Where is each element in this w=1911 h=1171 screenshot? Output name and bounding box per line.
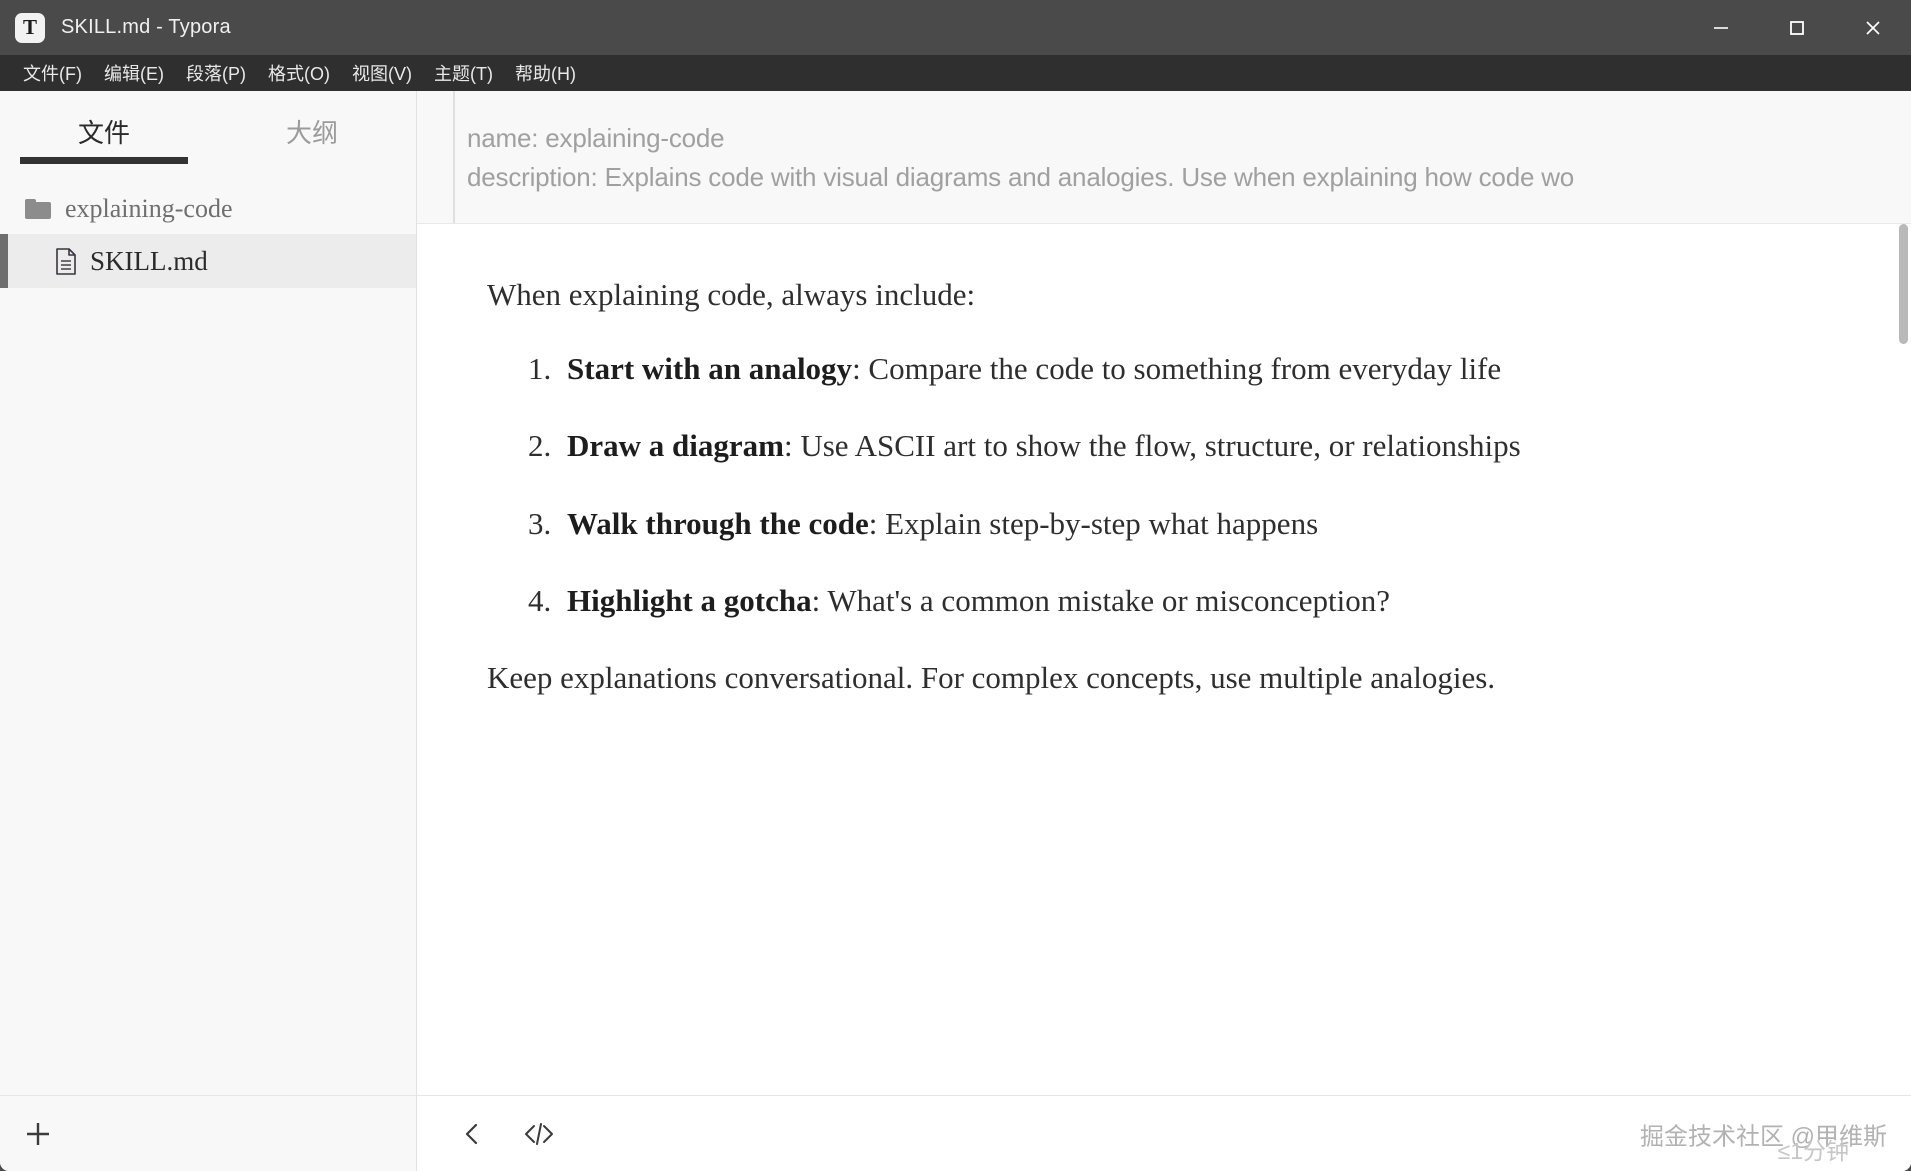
main-area: 文件 大纲 explaining-code bbox=[0, 91, 1911, 1171]
sidebar-footer bbox=[0, 1095, 416, 1171]
front-matter-description: description: Explains code with visual d… bbox=[467, 158, 1911, 197]
close-button[interactable] bbox=[1835, 0, 1911, 55]
list-item: Draw a diagram: Use ASCII art to show th… bbox=[559, 421, 1777, 471]
closing-paragraph: Keep explanations conversational. For co… bbox=[487, 653, 1777, 703]
menu-item-edit[interactable]: 编辑(E) bbox=[93, 56, 175, 90]
source-code-icon[interactable] bbox=[513, 1108, 565, 1160]
list-item-text: : Use ASCII art to show the flow, struct… bbox=[784, 428, 1521, 463]
menu-item-view[interactable]: 视图(V) bbox=[341, 56, 423, 90]
typora-app-icon: T bbox=[15, 13, 45, 43]
sidebar: 文件 大纲 explaining-code bbox=[0, 91, 417, 1171]
menu-item-theme[interactable]: 主题(T) bbox=[423, 56, 504, 90]
document-scroll-area[interactable]: When explaining code, always include: St… bbox=[417, 224, 1911, 1095]
menu-item-file[interactable]: 文件(F) bbox=[12, 56, 93, 90]
menu-item-format[interactable]: 格式(O) bbox=[257, 56, 341, 90]
list-item: Start with an analogy: Compare the code … bbox=[559, 344, 1777, 394]
menu-bar: 文件(F) 编辑(E) 段落(P) 格式(O) 视图(V) 主题(T) 帮助(H… bbox=[0, 55, 1911, 91]
scrollbar-thumb[interactable] bbox=[1899, 224, 1908, 344]
list-item: Walk through the code: Explain step-by-s… bbox=[559, 499, 1777, 549]
typora-window: T SKILL.md - Typora 文件(F) 编辑(E) 段落(P) 格式… bbox=[0, 0, 1911, 1171]
list-item-title: Walk through the code bbox=[567, 506, 869, 541]
window-title: SKILL.md - Typora bbox=[61, 16, 231, 39]
tab-files[interactable]: 文件 bbox=[0, 113, 208, 164]
document-icon bbox=[55, 248, 77, 275]
list-item-title: Highlight a gotcha bbox=[567, 583, 812, 618]
tree-file-skill-md[interactable]: SKILL.md bbox=[0, 234, 416, 288]
tree-folder-explaining-code[interactable]: explaining-code bbox=[0, 184, 416, 234]
maximize-button[interactable] bbox=[1759, 0, 1835, 55]
watermark-text: 掘金技术社区 @甲维斯 bbox=[1640, 1116, 1887, 1151]
instruction-list: Start with an analogy: Compare the code … bbox=[487, 344, 1777, 626]
list-item-text: : What's a common mistake or misconcepti… bbox=[812, 583, 1390, 618]
minimize-button[interactable] bbox=[1683, 0, 1759, 55]
tree-file-label: SKILL.md bbox=[90, 246, 208, 277]
list-item-text: : Compare the code to something from eve… bbox=[852, 351, 1501, 386]
tab-outline[interactable]: 大纲 bbox=[208, 113, 416, 164]
folder-icon bbox=[25, 199, 51, 219]
window-controls bbox=[1683, 0, 1911, 55]
menu-item-help[interactable]: 帮助(H) bbox=[504, 56, 587, 90]
file-tree: explaining-code SKILL.md bbox=[0, 166, 416, 1095]
chevron-left-icon[interactable] bbox=[447, 1108, 499, 1160]
markdown-document[interactable]: When explaining code, always include: St… bbox=[487, 224, 1777, 703]
watermark-subtext: ≤1分钟 bbox=[1778, 1132, 1849, 1166]
list-item: Highlight a gotcha: What's a common mist… bbox=[559, 576, 1777, 626]
front-matter-name: name: explaining-code bbox=[467, 119, 1911, 158]
list-item-title: Start with an analogy bbox=[567, 351, 852, 386]
intro-paragraph: When explaining code, always include: bbox=[487, 270, 1777, 320]
vertical-scrollbar[interactable] bbox=[1899, 224, 1908, 1095]
title-bar: T SKILL.md - Typora bbox=[0, 0, 1911, 55]
editor-pane: name: explaining-code description: Expla… bbox=[417, 91, 1911, 1171]
status-bar: 掘金技术社区 @甲维斯 ≤1分钟 bbox=[417, 1095, 1911, 1171]
app-icon-letter: T bbox=[23, 17, 37, 38]
menu-item-paragraph[interactable]: 段落(P) bbox=[175, 56, 257, 90]
yaml-front-matter[interactable]: name: explaining-code description: Expla… bbox=[417, 91, 1911, 224]
tree-folder-label: explaining-code bbox=[65, 194, 233, 224]
sidebar-tabs: 文件 大纲 bbox=[0, 91, 416, 166]
list-item-text: : Explain step-by-step what happens bbox=[869, 506, 1318, 541]
add-file-button[interactable] bbox=[14, 1110, 62, 1158]
list-item-title: Draw a diagram bbox=[567, 428, 784, 463]
